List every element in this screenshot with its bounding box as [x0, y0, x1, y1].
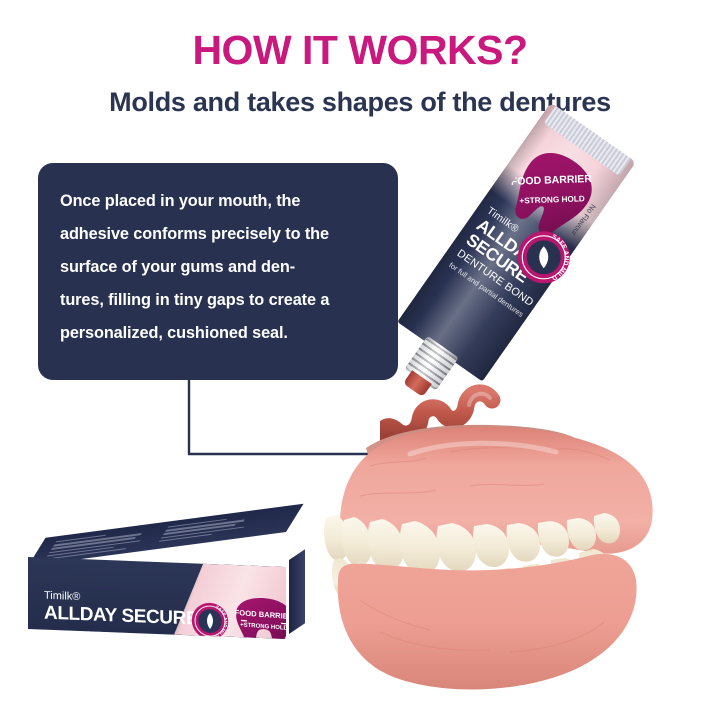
- carton-text-group: Timilk® ALLDAY SECURE DENTURE BOND for f…: [44, 590, 215, 639]
- denture-illustration: [300, 400, 720, 700]
- carton-top-panel: [28, 504, 304, 566]
- carton-fineprint-left: [43, 529, 152, 562]
- tube-graphic: FOOD BARRIER +STRONG HOLD No Flavour Tim…: [372, 102, 636, 417]
- carton-fineprint-right: [157, 514, 260, 543]
- carton-product-sub: DENTURE BOND: [44, 629, 126, 639]
- carton-side-panel: [289, 549, 305, 634]
- callout-box: Once placed in your mouth, the adhesive …: [38, 163, 398, 380]
- denture-lower-gum: [338, 554, 637, 690]
- carton-food-barrier-badge: FOOD BARRIER +STRONG HOLD: [233, 594, 286, 639]
- product-carton: Timilk® ALLDAY SECURE DENTURE BOND for f…: [22, 540, 307, 650]
- page-title: HOW IT WORKS?: [0, 28, 720, 73]
- safe-and-mild-badge: SAFE AND MILD: [517, 230, 571, 284]
- infographic-canvas: HOW IT WORKS? Molds and takes shapes of …: [0, 0, 720, 720]
- carton-safe-and-mild-badge: SAFE AND MILD: [191, 601, 229, 639]
- carton-front-panel: Timilk® ALLDAY SECURE DENTURE BOND for f…: [28, 557, 286, 639]
- callout-text: Once placed in your mouth, the adhesive …: [60, 185, 372, 350]
